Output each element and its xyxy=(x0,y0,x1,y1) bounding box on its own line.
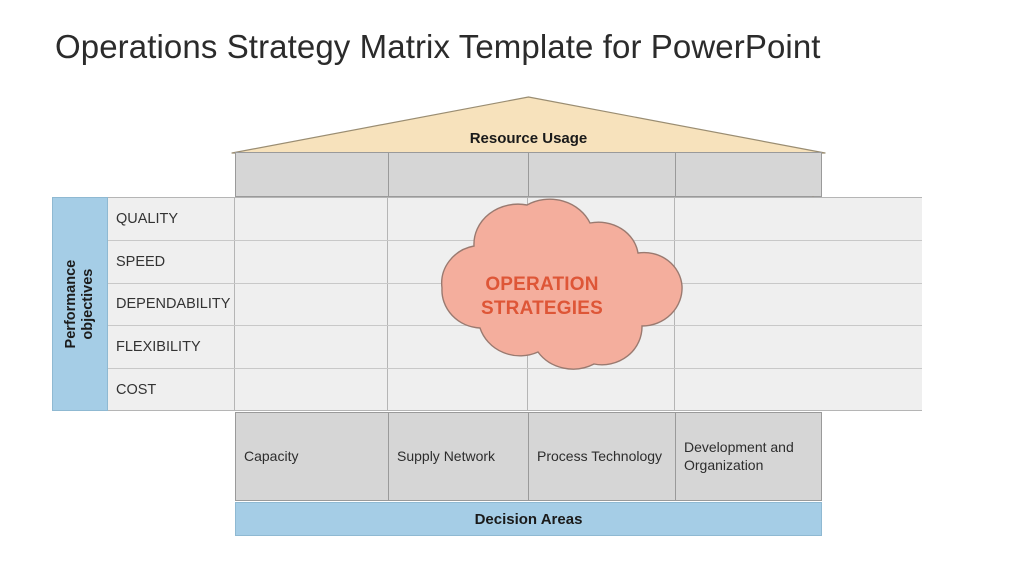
row-label-cost: COST xyxy=(108,369,235,410)
decision-areas-cells: Capacity Supply Network Process Technolo… xyxy=(235,412,822,501)
matrix-cell-speed-development-and-organization[interactable] xyxy=(675,241,922,283)
decision-cell-supply-network[interactable]: Supply Network xyxy=(389,413,529,500)
performance-objectives-band[interactable]: Performance objectives xyxy=(52,197,108,411)
row-label-quality: QUALITY xyxy=(108,198,235,240)
page-title: Operations Strategy Matrix Template for … xyxy=(55,28,821,66)
matrix-cell-flexibility-capacity[interactable] xyxy=(235,326,388,368)
matrix-cell-dependability-development-and-organization[interactable] xyxy=(675,284,922,326)
decision-areas-bar[interactable]: Decision Areas xyxy=(235,502,822,536)
operation-strategies-cloud[interactable]: OPERATION STRATEGIES xyxy=(394,196,690,398)
decision-cell-capacity[interactable]: Capacity xyxy=(236,413,389,500)
row-label-speed: SPEED xyxy=(108,241,235,283)
matrix-cell-quality-development-and-organization[interactable] xyxy=(675,198,922,240)
performance-objectives-label: Performance objectives xyxy=(53,198,107,410)
top-header-cell-4[interactable] xyxy=(676,153,821,196)
matrix-cell-flexibility-development-and-organization[interactable] xyxy=(675,326,922,368)
row-label-dependability: DEPENDABILITY xyxy=(108,284,235,326)
performance-objectives-line2: objectives xyxy=(80,269,96,340)
matrix-cell-cost-capacity[interactable] xyxy=(235,369,388,410)
top-header-band xyxy=(235,152,822,197)
performance-objectives-line1: Performance xyxy=(63,260,79,349)
row-label-flexibility: FLEXIBILITY xyxy=(108,326,235,368)
resource-usage-roof[interactable]: Resource Usage xyxy=(231,96,826,154)
matrix-cell-cost-development-and-organization[interactable] xyxy=(675,369,922,410)
top-header-cell-3[interactable] xyxy=(529,153,676,196)
slide-canvas: Operations Strategy Matrix Template for … xyxy=(0,0,1024,576)
cloud-shape-icon xyxy=(394,196,690,398)
matrix-cell-speed-capacity[interactable] xyxy=(235,241,388,283)
top-header-cell-1[interactable] xyxy=(236,153,389,196)
roof-triangle-shape xyxy=(231,96,826,154)
matrix-cell-quality-capacity[interactable] xyxy=(235,198,388,240)
decision-cell-development-and-organization[interactable]: Development and Organization xyxy=(676,413,821,500)
matrix-cell-dependability-capacity[interactable] xyxy=(235,284,388,326)
top-header-cell-2[interactable] xyxy=(389,153,529,196)
decision-cell-process-technology[interactable]: Process Technology xyxy=(529,413,676,500)
